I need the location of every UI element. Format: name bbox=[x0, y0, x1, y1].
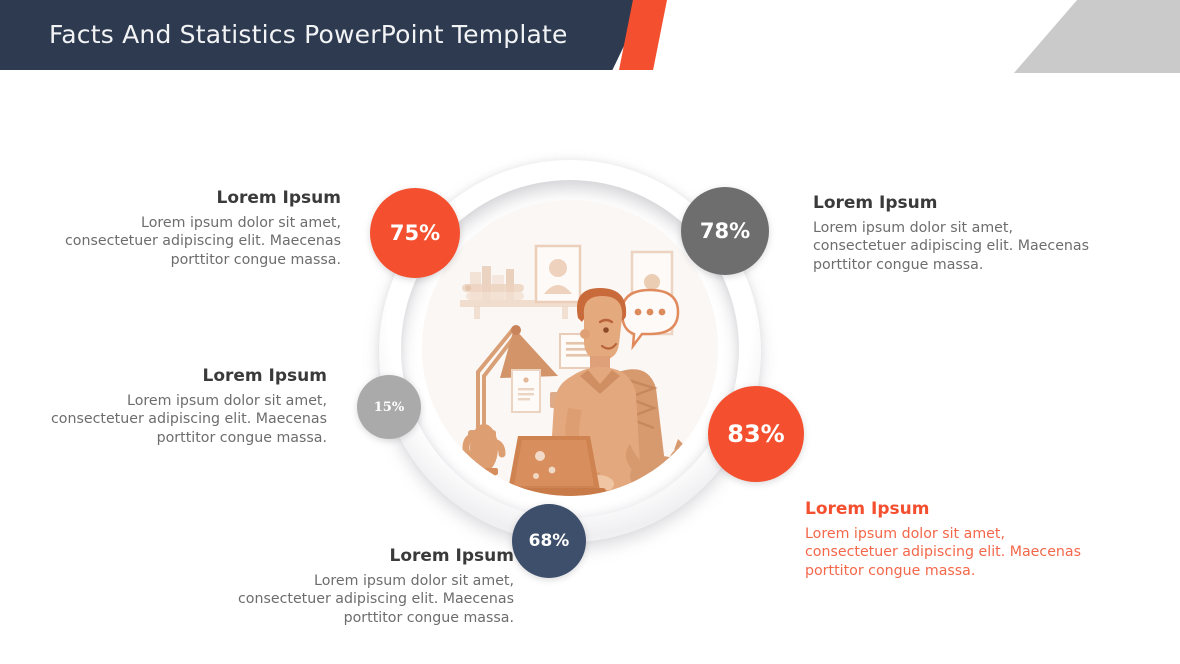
stat-heading-15: Lorem Ipsum bbox=[47, 367, 327, 387]
stat-body-15: Lorem ipsum dolor sit amet, consectetuer… bbox=[47, 392, 327, 448]
corner-decoration-shape bbox=[1014, 0, 1180, 73]
stat-bubble-75[interactable]: 75% bbox=[370, 188, 460, 278]
stat-text-block-83: Lorem Ipsum Lorem ipsum dolor sit amet, … bbox=[805, 500, 1085, 581]
stat-bubble-15[interactable]: 15% bbox=[357, 375, 421, 439]
stat-bubble-83[interactable]: 83% bbox=[708, 386, 804, 482]
person-working-at-desk-illustration bbox=[422, 200, 718, 496]
stat-heading-78: Lorem Ipsum bbox=[813, 194, 1093, 214]
stat-heading-83: Lorem Ipsum bbox=[805, 500, 1085, 520]
slide-header: Facts And Statistics PowerPoint Template bbox=[0, 0, 680, 70]
stat-body-78: Lorem ipsum dolor sit amet, consectetuer… bbox=[813, 219, 1093, 275]
center-graphic: 75% 78% 15% 83% 68% bbox=[379, 160, 761, 542]
stat-text-block-75: Lorem Ipsum Lorem ipsum dolor sit amet, … bbox=[61, 189, 341, 270]
stat-text-block-78: Lorem Ipsum Lorem ipsum dolor sit amet, … bbox=[813, 194, 1093, 275]
stat-text-block-68: Lorem Ipsum Lorem ipsum dolor sit amet, … bbox=[234, 547, 514, 628]
stat-text-block-15: Lorem Ipsum Lorem ipsum dolor sit amet, … bbox=[47, 367, 327, 448]
stat-body-83: Lorem ipsum dolor sit amet, consectetuer… bbox=[805, 525, 1085, 581]
page-title: Facts And Statistics PowerPoint Template bbox=[49, 0, 568, 70]
stat-bubble-68[interactable]: 68% bbox=[512, 504, 586, 578]
stat-heading-68: Lorem Ipsum bbox=[234, 547, 514, 567]
stat-body-68: Lorem ipsum dolor sit amet, consectetuer… bbox=[234, 572, 514, 628]
stat-body-75: Lorem ipsum dolor sit amet, consectetuer… bbox=[61, 214, 341, 270]
stat-heading-75: Lorem Ipsum bbox=[61, 189, 341, 209]
stat-bubble-78[interactable]: 78% bbox=[681, 187, 769, 275]
